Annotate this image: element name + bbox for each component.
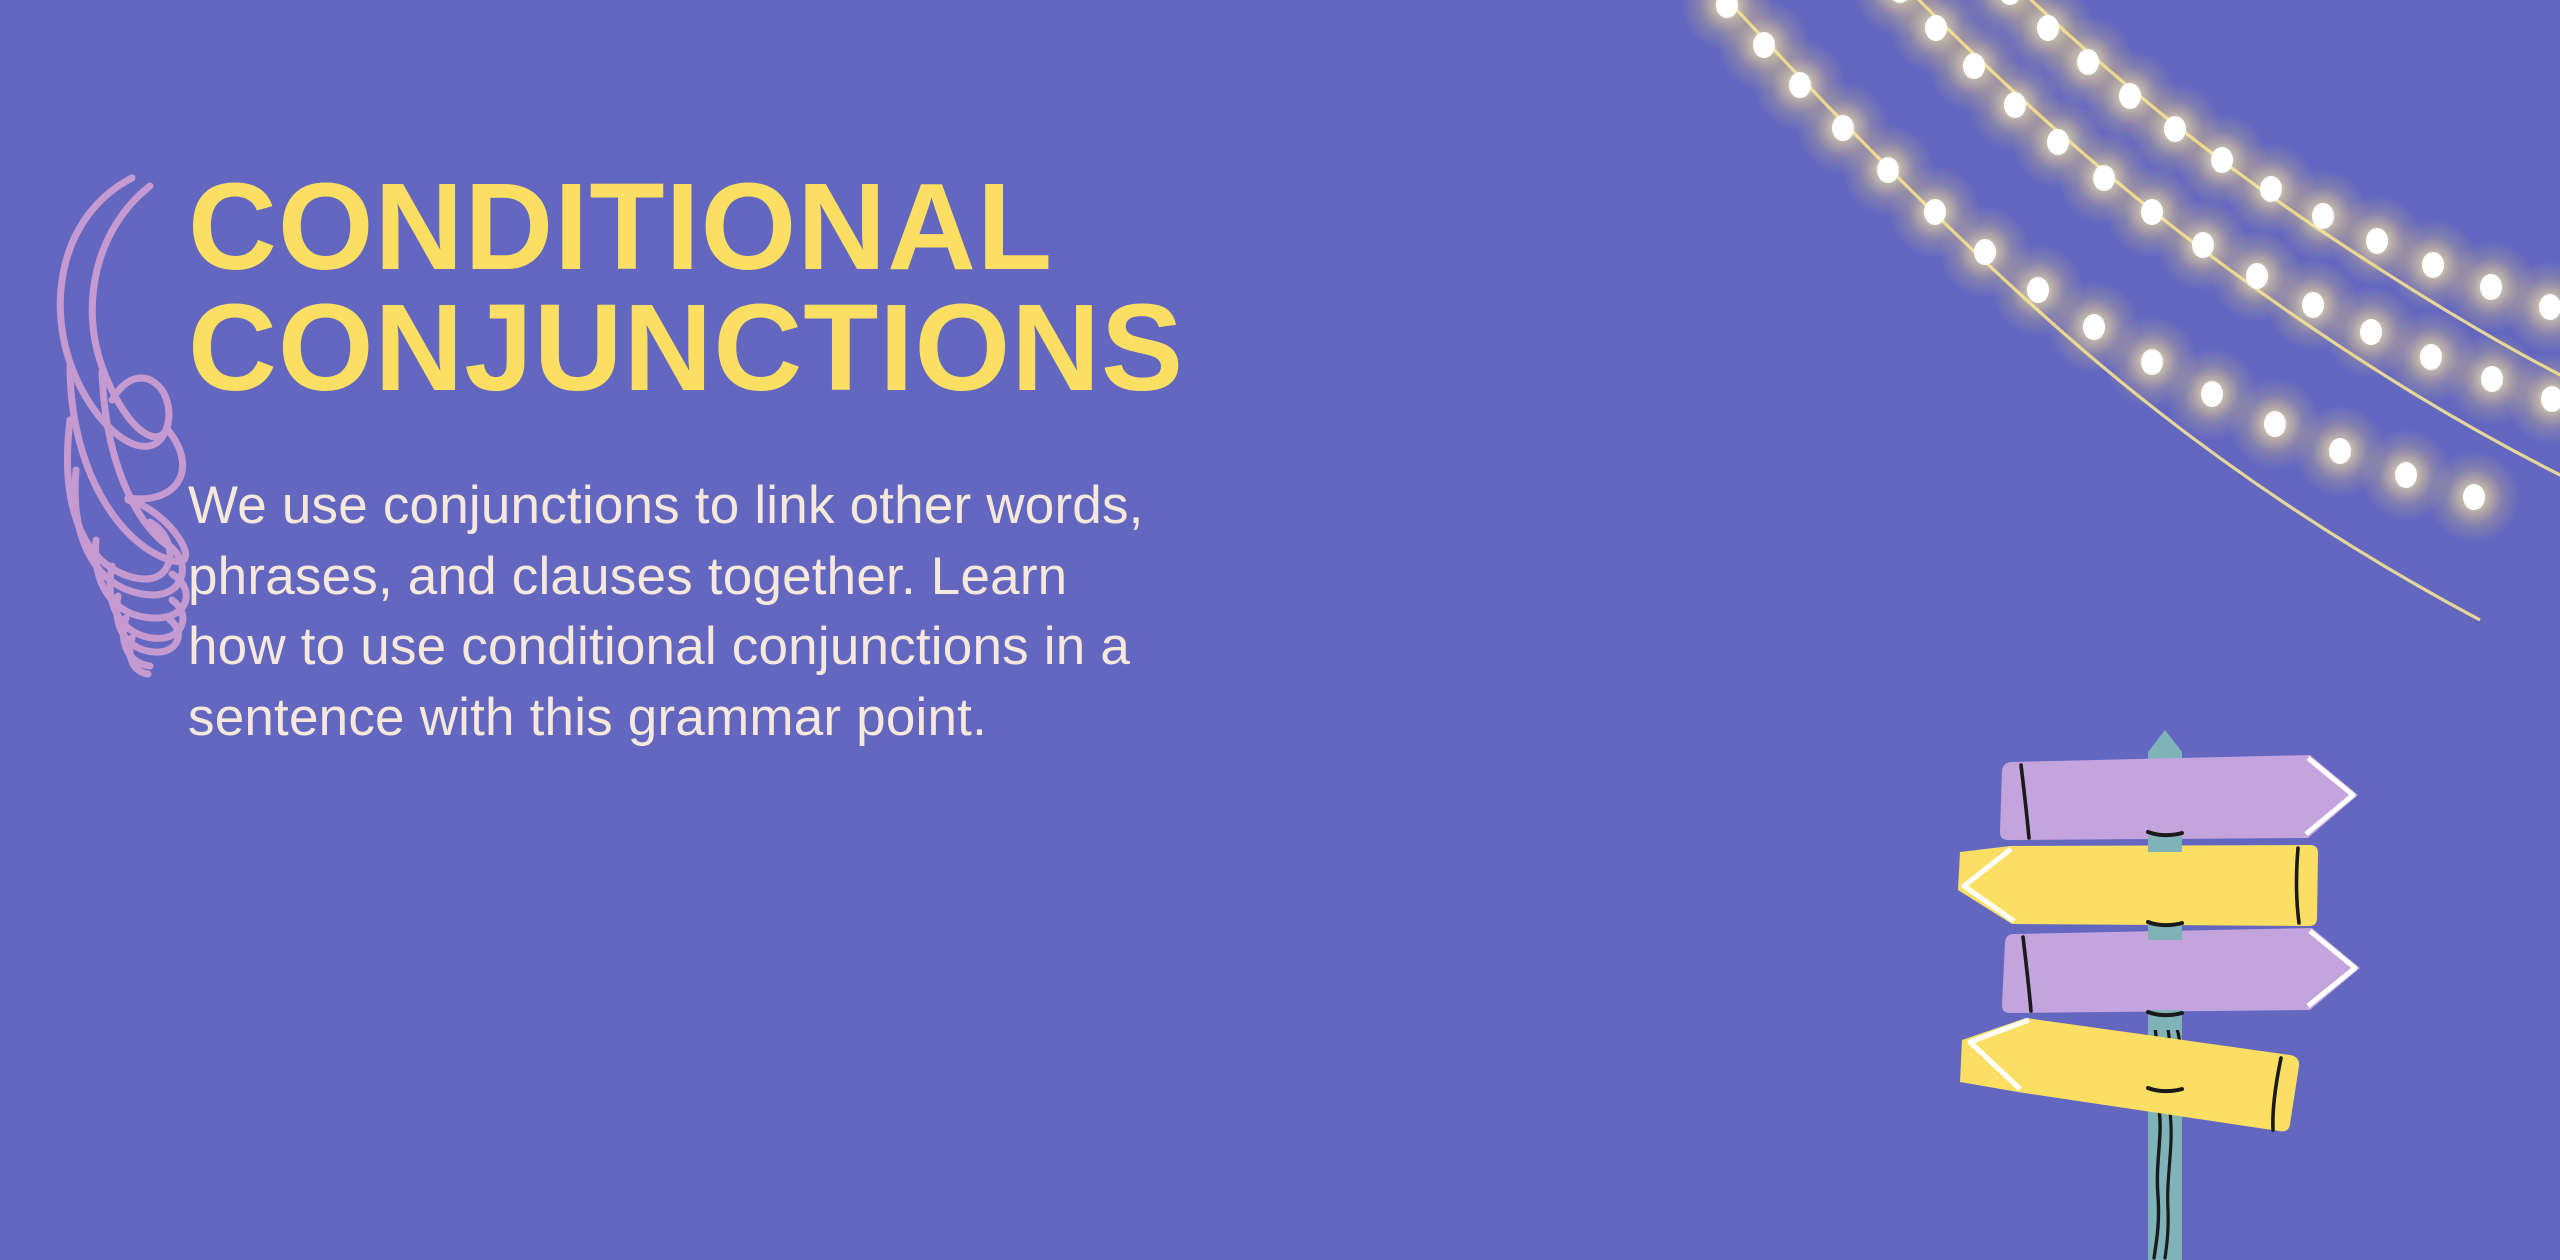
signpost-sign-2-yellow-left — [1958, 845, 2318, 926]
light-wire-3 — [1990, 0, 2560, 385]
signpost-post — [2148, 730, 2182, 1260]
light-bulbs-group — [1681, 0, 2560, 543]
page-title-line-1: CONDITIONAL — [188, 168, 1308, 289]
page-title-line-2: CONJUNCTIONS — [188, 289, 1308, 410]
signpost-sign-3-purple-right — [2002, 928, 2360, 1013]
signpost-sign-1-purple-right — [2000, 755, 2358, 840]
banner-canvas: CONDITIONAL CONJUNCTIONS We use conjunct… — [0, 0, 2560, 1260]
banner-content: CONDITIONAL CONJUNCTIONS We use conjunct… — [188, 168, 1308, 753]
page-title: CONDITIONAL CONJUNCTIONS — [188, 168, 1308, 409]
signpost-post-front-segments — [2148, 832, 2182, 1091]
page-description: We use conjunctions to link other words,… — [188, 471, 1178, 753]
light-wire-1 — [1700, 0, 2480, 620]
signpost-sign-4-yellow-left — [1960, 1018, 2299, 1131]
light-wire-2 — [1880, 0, 2560, 480]
